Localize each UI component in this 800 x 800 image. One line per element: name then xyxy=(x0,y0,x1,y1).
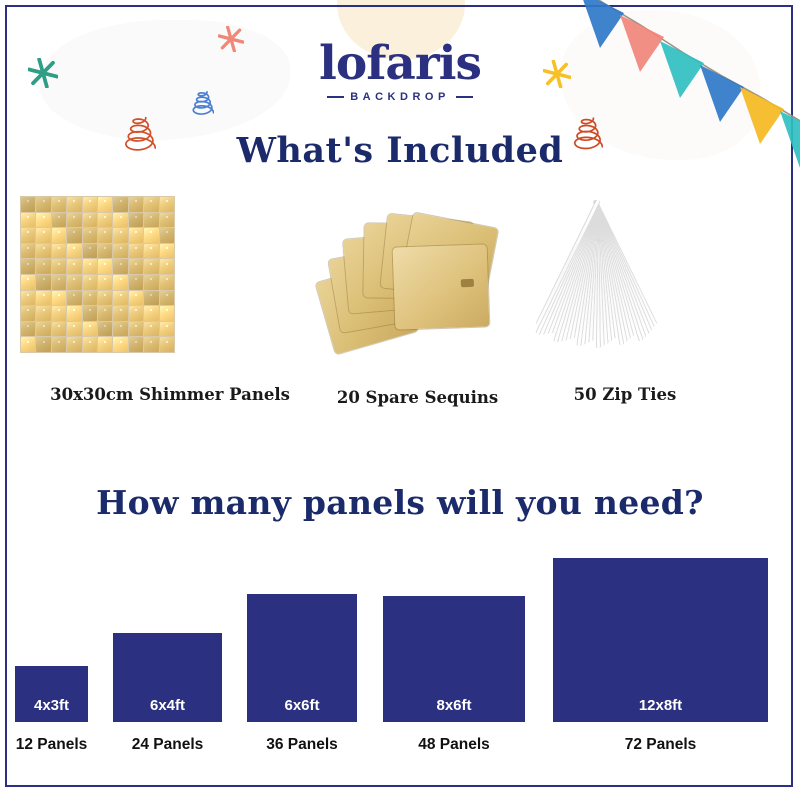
sequin-cell xyxy=(21,322,35,337)
size-chart-column: 6x4ft24 Panels xyxy=(113,550,222,760)
sequin-cell xyxy=(160,291,174,306)
sequin-cell xyxy=(129,259,143,274)
sequin-cell xyxy=(144,213,158,228)
sequin-cell xyxy=(113,259,127,274)
sequin-cell xyxy=(129,306,143,321)
product-label-spare-sequins: 20 Spare Sequins xyxy=(320,388,515,407)
sequin-cell xyxy=(52,213,66,228)
size-bar-6x6ft: 6x6ft xyxy=(247,594,357,722)
sequin-fan-stack xyxy=(320,196,505,346)
product-shimmer-panels: 30x30cm Shimmer Panels xyxy=(20,196,320,404)
sequin-cell xyxy=(129,275,143,290)
sequin-cell xyxy=(113,275,127,290)
sequin-cell xyxy=(129,291,143,306)
sequin-cell xyxy=(67,213,81,228)
shimmer-sequin-grid xyxy=(20,196,175,353)
sequin-cell xyxy=(160,322,174,337)
size-bar-label: 6x4ft xyxy=(150,697,185,722)
sequin-cell xyxy=(144,244,158,259)
sequin-cell xyxy=(67,244,81,259)
sequin-cell xyxy=(144,337,158,352)
sequin-cell xyxy=(160,337,174,352)
bunting-flag xyxy=(620,15,664,72)
sequin-cell xyxy=(83,244,97,259)
size-chart-column: 6x6ft36 Panels xyxy=(247,550,357,760)
sequin-cell xyxy=(83,306,97,321)
sequin-cell xyxy=(160,228,174,243)
sequin-cell xyxy=(129,228,143,243)
sequin-cell xyxy=(21,259,35,274)
sequin-cell xyxy=(98,322,112,337)
sequin-cell xyxy=(36,213,50,228)
logo-rule-right xyxy=(456,96,473,98)
sequin-cell xyxy=(83,322,97,337)
sequin-cell xyxy=(113,213,127,228)
zip-tie-bundle xyxy=(520,196,670,351)
sequin-cell xyxy=(21,228,35,243)
sequin-cell xyxy=(21,197,35,212)
sequin-cell xyxy=(98,337,112,352)
sequin-cell xyxy=(113,306,127,321)
sequin-cell xyxy=(52,306,66,321)
sequin-cell xyxy=(52,337,66,352)
sequin-cell xyxy=(113,228,127,243)
size-bar-label: 4x3ft xyxy=(34,697,69,722)
panel-size-chart: 4x3ft12 Panels6x4ft24 Panels6x6ft36 Pane… xyxy=(0,550,800,760)
sequin-cell xyxy=(83,228,97,243)
sequin-cell xyxy=(36,259,50,274)
size-chart-column: 4x3ft12 Panels xyxy=(15,550,88,760)
sequin-cell xyxy=(129,197,143,212)
sequin-cell xyxy=(36,337,50,352)
spare-sequins-image xyxy=(320,196,515,346)
sequin-cell xyxy=(36,244,50,259)
sequin-cell xyxy=(113,244,127,259)
sequin-cell xyxy=(67,228,81,243)
sequin-cell xyxy=(67,197,81,212)
sequin-cell xyxy=(21,275,35,290)
sequin-cell xyxy=(160,244,174,259)
bunting-flag xyxy=(660,41,704,98)
sequin-cell xyxy=(67,337,81,352)
sequin-cell xyxy=(129,337,143,352)
panels-needed-heading: How many panels will you need? xyxy=(0,483,800,522)
sequin-cell xyxy=(52,197,66,212)
sequin-cell xyxy=(160,259,174,274)
sequin-cell xyxy=(160,213,174,228)
sequin-cell xyxy=(21,337,35,352)
sequin-cell xyxy=(36,291,50,306)
sequin-cell xyxy=(36,322,50,337)
size-bar-6x4ft: 6x4ft xyxy=(113,633,222,722)
sequin-cell xyxy=(98,275,112,290)
sequin-cell xyxy=(52,259,66,274)
sequin-cell xyxy=(129,244,143,259)
size-bar-label: 8x6ft xyxy=(436,697,471,722)
sequin-cell xyxy=(83,213,97,228)
sequin-cell xyxy=(144,275,158,290)
sequin-cell xyxy=(83,259,97,274)
sequin-cell xyxy=(83,337,97,352)
sequin-cell xyxy=(67,306,81,321)
sequin-cell xyxy=(21,291,35,306)
sequin-cell xyxy=(21,244,35,259)
sequin-cell xyxy=(98,228,112,243)
sequin-cell xyxy=(36,275,50,290)
sequin-cell xyxy=(98,244,112,259)
sequin-card-front xyxy=(393,244,490,329)
sequin-cell xyxy=(160,275,174,290)
sequin-cell xyxy=(113,322,127,337)
sequin-cell xyxy=(21,306,35,321)
sequin-cell xyxy=(144,291,158,306)
sequin-cell xyxy=(129,322,143,337)
infographic-page: lofaris BACKDROP What's Included How man… xyxy=(0,0,800,800)
sequin-cell xyxy=(98,291,112,306)
sequin-cell xyxy=(98,197,112,212)
product-label-zip-ties: 50 Zip Ties xyxy=(520,385,730,404)
sequin-cell xyxy=(113,291,127,306)
sequin-cell xyxy=(67,259,81,274)
sequin-cell xyxy=(67,275,81,290)
sequin-cell xyxy=(21,213,35,228)
size-bar-label: 12x8ft xyxy=(639,697,682,722)
bunting-flag xyxy=(580,0,624,48)
sequin-cell xyxy=(52,244,66,259)
size-bar-12x8ft: 12x8ft xyxy=(553,558,768,722)
product-zip-ties: 50 Zip Ties xyxy=(520,196,730,404)
product-label-shimmer-panels: 30x30cm Shimmer Panels xyxy=(20,385,320,404)
sequin-cell xyxy=(144,228,158,243)
zip-ties-image xyxy=(520,196,730,351)
sequin-cell xyxy=(98,259,112,274)
sequin-cell xyxy=(36,197,50,212)
size-chart-column: 12x8ft72 Panels xyxy=(553,550,768,760)
panel-count-caption: 72 Panels xyxy=(553,736,768,754)
bunting-flag xyxy=(700,65,744,122)
sequin-cell xyxy=(67,291,81,306)
sequin-cell xyxy=(144,197,158,212)
sequin-cell xyxy=(160,306,174,321)
sequin-cell xyxy=(52,228,66,243)
sequin-cell xyxy=(67,322,81,337)
size-bar-label: 6x6ft xyxy=(284,697,319,722)
sequin-cell xyxy=(113,197,127,212)
panel-count-caption: 36 Panels xyxy=(247,736,357,754)
bunting-flags xyxy=(580,0,800,169)
sequin-cell xyxy=(160,197,174,212)
shimmer-panel-image xyxy=(20,196,320,353)
sequin-cell xyxy=(129,213,143,228)
sequin-cell xyxy=(83,291,97,306)
sequin-cell xyxy=(52,291,66,306)
panel-count-caption: 12 Panels xyxy=(15,736,88,754)
sequin-cell xyxy=(144,306,158,321)
size-bar-8x6ft: 8x6ft xyxy=(383,596,525,722)
sequin-cell xyxy=(83,275,97,290)
sequin-cell xyxy=(144,322,158,337)
bunting-flag xyxy=(740,87,784,144)
brand-subtitle: BACKDROP xyxy=(350,91,450,103)
size-bar-4x3ft: 4x3ft xyxy=(15,666,88,722)
sequin-cell xyxy=(36,306,50,321)
logo-rule-left xyxy=(327,96,344,98)
product-spare-sequins: 20 Spare Sequins xyxy=(320,196,515,407)
sequin-cell xyxy=(36,228,50,243)
panel-count-caption: 24 Panels xyxy=(113,736,222,754)
sequin-cell xyxy=(52,275,66,290)
sequin-cell xyxy=(52,322,66,337)
bunting-flag xyxy=(780,111,800,168)
sequin-cell xyxy=(144,259,158,274)
sequin-cell xyxy=(98,213,112,228)
sequin-cell xyxy=(113,337,127,352)
panel-count-caption: 48 Panels xyxy=(383,736,525,754)
size-chart-column: 8x6ft48 Panels xyxy=(383,550,525,760)
sequin-cell xyxy=(83,197,97,212)
sequin-cell xyxy=(98,306,112,321)
